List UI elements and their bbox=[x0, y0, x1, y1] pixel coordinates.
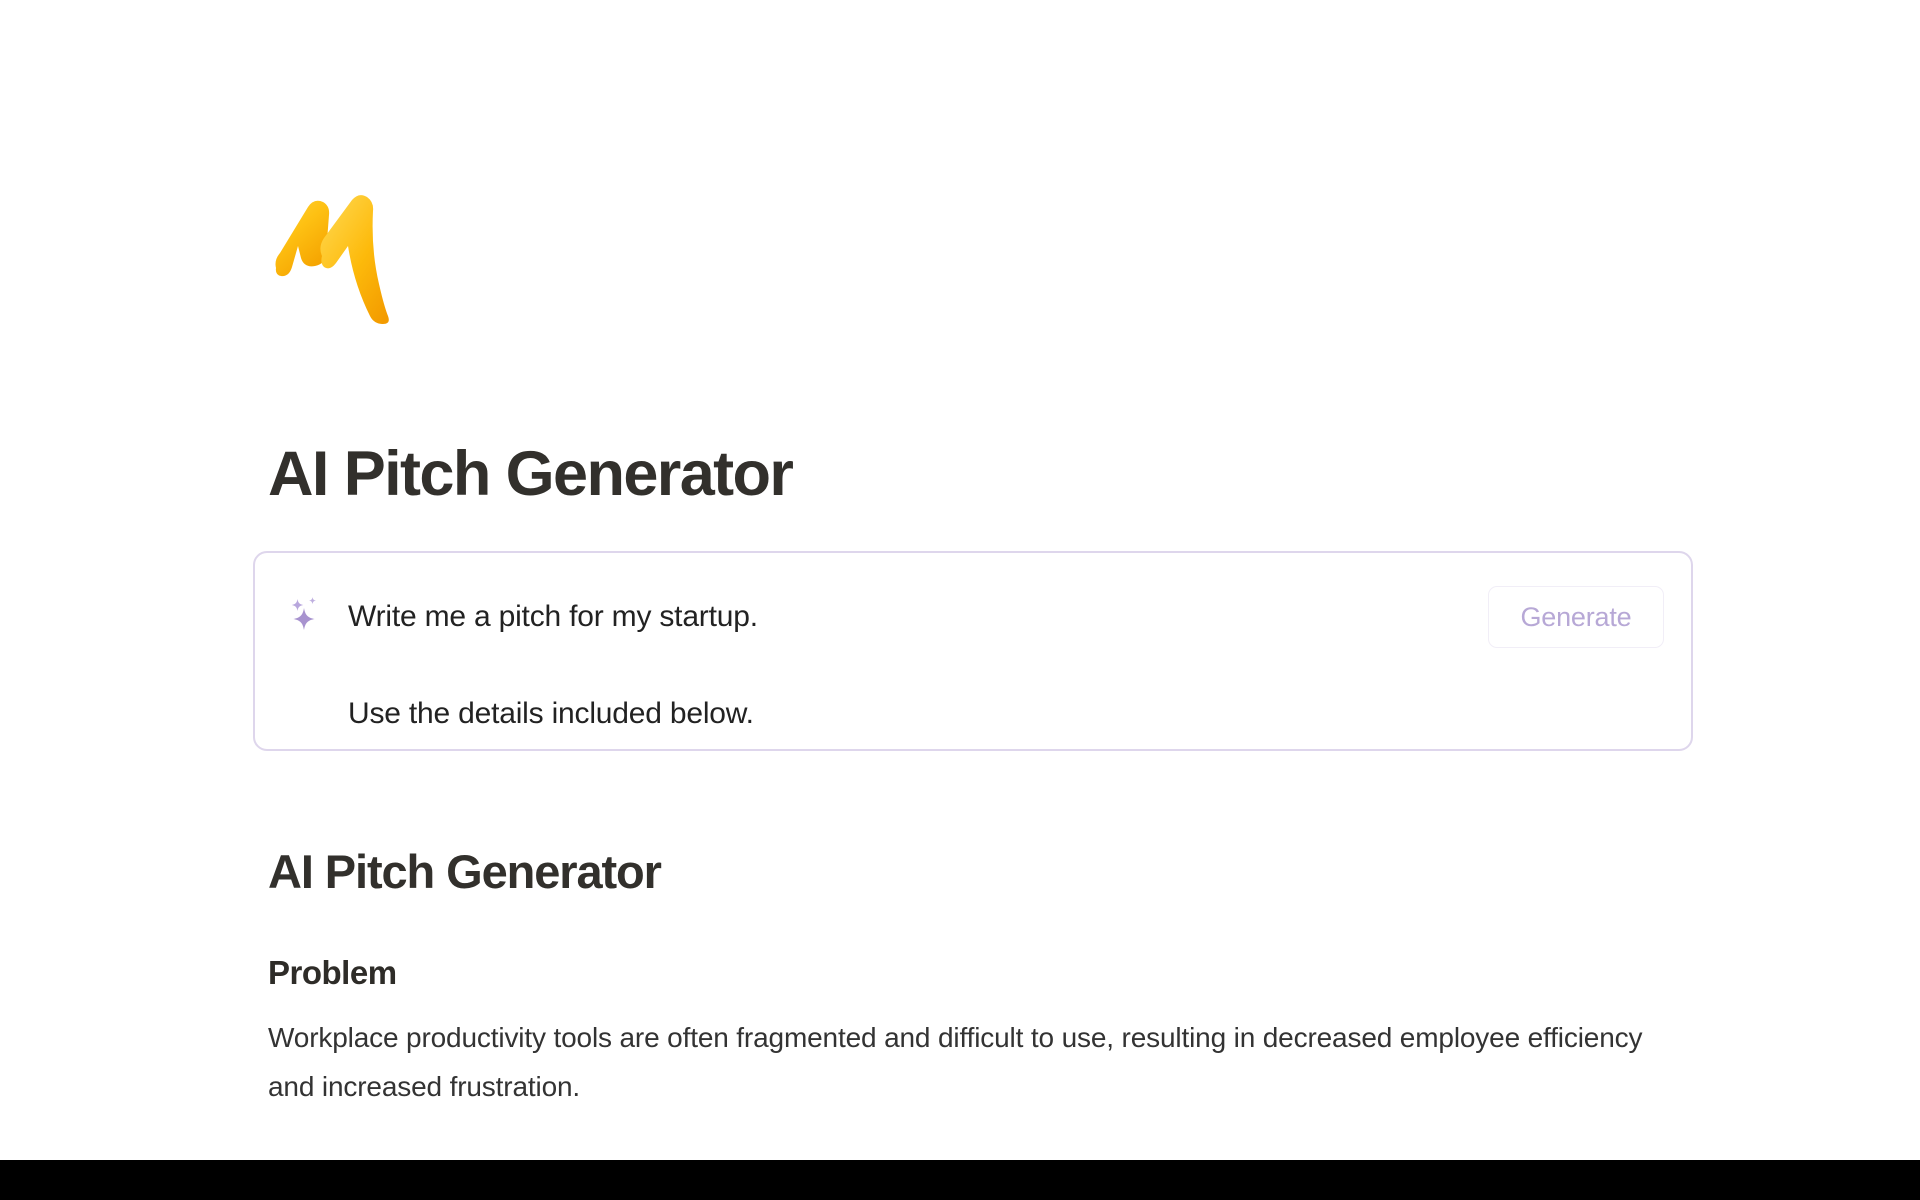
prompt-text-line-1[interactable]: Write me a pitch for my startup. bbox=[348, 597, 758, 637]
prompt-text-line-2[interactable]: Use the details included below. bbox=[348, 694, 754, 734]
prompt-card-inner: Write me a pitch for my startup. Use the… bbox=[255, 553, 1691, 749]
section-body-problem: Workplace productivity tools are often f… bbox=[268, 1013, 1668, 1111]
generate-button[interactable]: Generate bbox=[1488, 586, 1664, 648]
section-heading-problem: Problem bbox=[268, 953, 1668, 993]
prompt-card[interactable]: Write me a pitch for my startup. Use the… bbox=[253, 551, 1693, 751]
generated-document: AI Pitch Generator Problem Workplace pro… bbox=[268, 845, 1668, 1111]
app-logo bbox=[270, 190, 420, 325]
page-root: AI Pitch Generator Write me a pitch for … bbox=[0, 0, 1920, 1200]
document-section: Problem Workplace productivity tools are… bbox=[268, 953, 1668, 1111]
sparkle-icon bbox=[287, 594, 329, 636]
document-title: AI Pitch Generator bbox=[268, 845, 1668, 899]
bottom-black-band bbox=[0, 1160, 1920, 1200]
page-title: AI Pitch Generator bbox=[268, 440, 792, 509]
